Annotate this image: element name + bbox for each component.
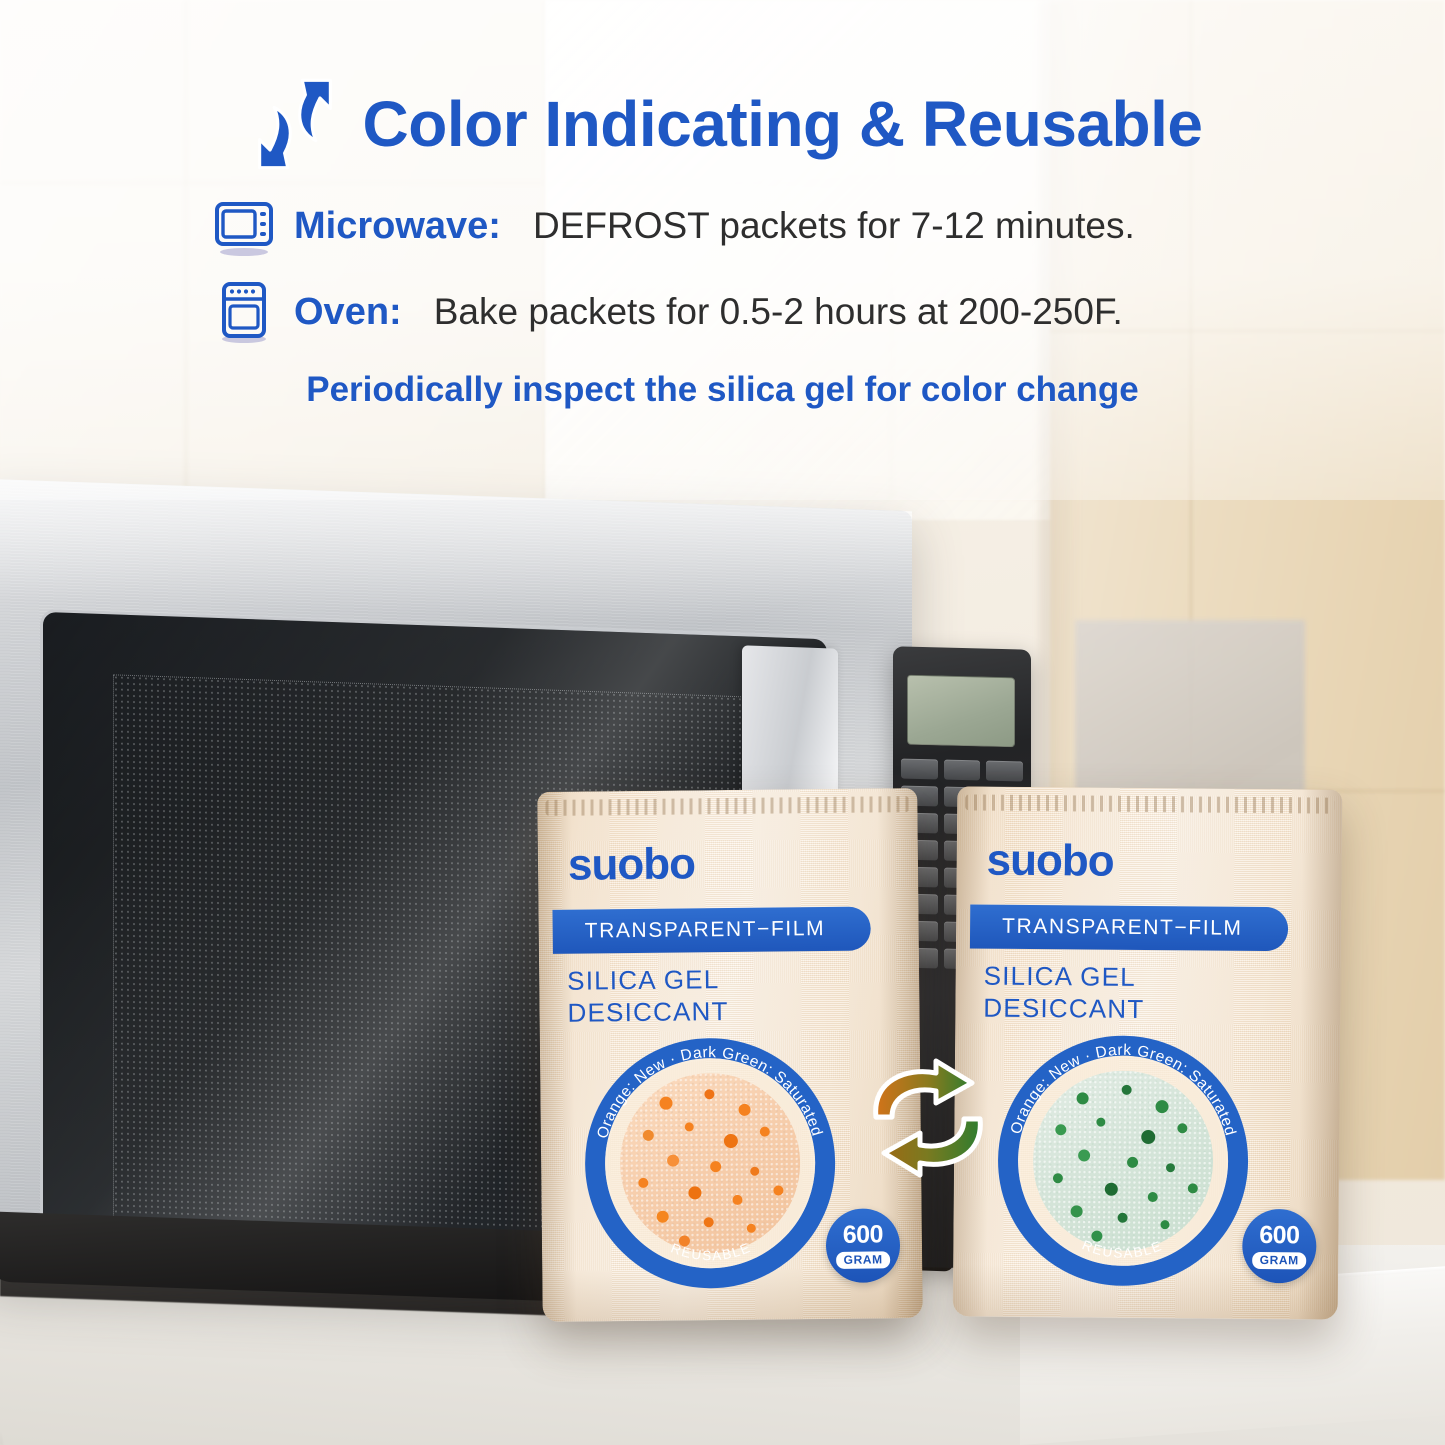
subtitle-line-2: DESICCANT <box>567 996 728 1029</box>
badge-unit-left: GRAM <box>837 1252 890 1269</box>
instruction-body-oven: Bake packets for 0.5-2 hours at 200-250F… <box>434 291 1123 333</box>
arc-bottom-text-right: REUSABLE <box>1080 1237 1165 1261</box>
circle-arc-text-left: Orange: New · Dark Green: Saturated REUS… <box>584 1037 837 1290</box>
title-row: Color Indicating & Reusable <box>0 0 1445 176</box>
arc-top-text-right: Orange: New · Dark Green: Saturated <box>1008 1041 1240 1138</box>
product-subtitle-right: SILICA GEL DESICCANT <box>983 961 1145 1026</box>
brand-logo-right: suobo <box>986 839 1113 884</box>
microwave-icon <box>212 194 276 258</box>
instruction-label-microwave: Microwave: <box>294 205 501 248</box>
instruction-oven: Oven: Bake packets for 0.5-2 hours at 20… <box>0 280 1445 344</box>
page-title: Color Indicating & Reusable <box>363 87 1203 161</box>
badge-unit-right: GRAM <box>1253 1252 1306 1269</box>
weight-badge-left: 600 GRAM <box>826 1208 901 1283</box>
inspection-note: Periodically inspect the silica gel for … <box>0 370 1445 410</box>
badge-number-left: 600 <box>843 1223 883 1248</box>
weight-badge-right: 600 GRAM <box>1242 1209 1317 1284</box>
lcd-display <box>907 675 1015 748</box>
pill-label-right: TRANSPARENT−FILM <box>970 914 1243 940</box>
svg-text:REUSABLE: REUSABLE <box>1080 1237 1165 1261</box>
svg-text:Orange: New · Dark Green: Sa: Orange: New · Dark Green: Saturated <box>1008 1041 1240 1138</box>
arc-bottom-text-left: REUSABLE <box>669 1240 754 1264</box>
subtitle-line-2: DESICCANT <box>983 992 1144 1025</box>
panel-button <box>901 759 938 780</box>
arc-top-text-left: Orange: New · Dark Green: Saturated <box>593 1043 825 1141</box>
gel-viewing-circle-left: Orange: New · Dark Green: Saturated REUS… <box>584 1037 837 1290</box>
pill-label-left: TRANSPARENT−FILM <box>553 917 826 944</box>
badge-number-right: 600 <box>1259 1223 1299 1248</box>
oven-icon <box>212 280 276 344</box>
panel-button <box>986 761 1023 782</box>
subtitle-line-1: SILICA GEL <box>567 964 728 997</box>
product-infographic: Color Indicating & Reusable Microwave: D… <box>0 0 1445 1445</box>
instruction-microwave: Microwave: DEFROST packets for 7-12 minu… <box>0 194 1445 258</box>
header: Color Indicating & Reusable Microwave: D… <box>0 0 1445 410</box>
transparent-film-pill-left: TRANSPARENT−FILM <box>552 907 870 954</box>
circle-arc-text-right: Orange: New · Dark Green: Saturated REUS… <box>997 1035 1249 1287</box>
recycle-icon <box>243 72 347 176</box>
gel-viewing-circle-right: Orange: New · Dark Green: Saturated REUS… <box>997 1035 1249 1287</box>
instruction-label-oven: Oven: <box>294 291 402 334</box>
brand-logo-left: suobo <box>568 842 695 887</box>
product-subtitle-left: SILICA GEL DESICCANT <box>567 964 729 1029</box>
svg-text:REUSABLE: REUSABLE <box>669 1240 754 1264</box>
instruction-body-microwave: DEFROST packets for 7-12 minutes. <box>533 205 1135 247</box>
product-bag-saturated: suobo TRANSPARENT−FILM SILICA GEL DESICC… <box>953 786 1343 1319</box>
subtitle-line-1: SILICA GEL <box>984 961 1145 994</box>
panel-button <box>944 760 981 781</box>
transparent-film-pill-right: TRANSPARENT−FILM <box>970 904 1288 951</box>
cycle-arrows-icon <box>862 1055 994 1181</box>
svg-text:Orange: New · Dark Green: Sa: Orange: New · Dark Green: Saturated <box>593 1043 825 1141</box>
